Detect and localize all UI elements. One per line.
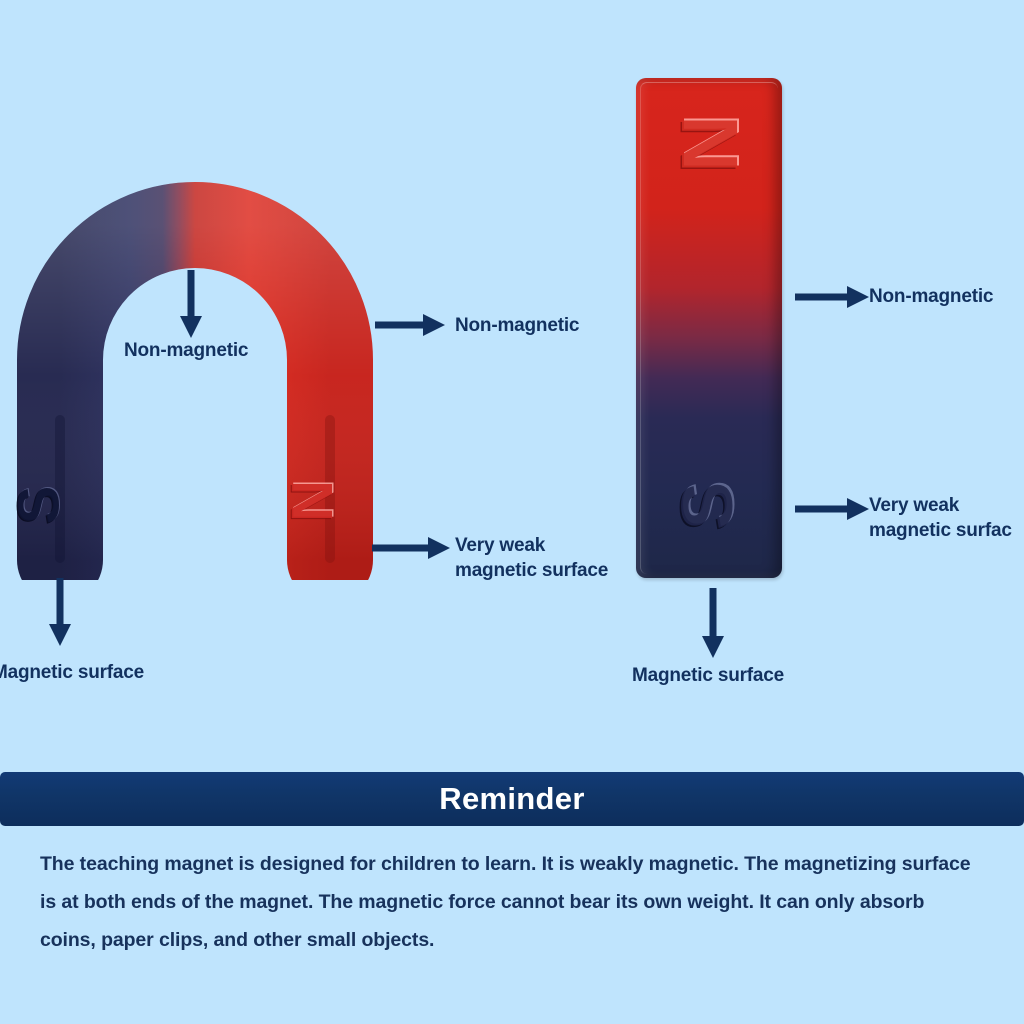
label-bar-very-weak: Very weak magnetic surfac xyxy=(869,493,1012,543)
label-bar-magnetic-surface: Magnetic surface xyxy=(632,663,784,688)
bar-north-pole-letter: N xyxy=(670,84,750,204)
horseshoe-north-pole-letter: N xyxy=(284,480,342,522)
product-info-image: S N N S Non-magnetic Non-magnetic xyxy=(0,0,1024,1024)
arrow-right-icon-bar-non-magnetic xyxy=(795,284,869,310)
arrow-down-icon-bar-magnetic xyxy=(700,588,726,658)
label-horseshoe-arch-non-magnetic: Non-magnetic xyxy=(124,338,248,363)
bar-south-pole-letter: S xyxy=(672,446,744,566)
arrow-down-icon-horseshoe-magnetic xyxy=(47,578,73,646)
arrow-right-icon-horseshoe-outer xyxy=(375,312,445,338)
horseshoe-south-pole-letter: S xyxy=(10,486,68,525)
label-line-2: magnetic surfac xyxy=(869,518,1012,543)
label-line-1: Very weak xyxy=(869,493,1012,518)
label-horseshoe-very-weak: Very weak magnetic surface xyxy=(455,533,608,583)
label-horseshoe-outer-non-magnetic: Non-magnetic xyxy=(455,313,579,338)
label-bar-non-magnetic: Non-magnetic xyxy=(869,284,993,309)
reminder-banner: Reminder xyxy=(0,772,1024,826)
reminder-title: Reminder xyxy=(439,781,584,817)
label-line-2: magnetic surface xyxy=(455,558,608,583)
arrow-down-icon-horseshoe-arch xyxy=(178,270,204,338)
label-line-1: Very weak xyxy=(455,533,608,558)
arrow-right-icon-bar-weak xyxy=(795,496,869,522)
reminder-body-text: The teaching magnet is designed for chil… xyxy=(40,845,984,959)
label-horseshoe-magnetic-surface: Magnetic surface xyxy=(0,660,144,685)
arrow-right-icon-horseshoe-weak xyxy=(372,535,450,561)
magnet-illustration: S N N S Non-magnetic Non-magnetic xyxy=(0,0,1024,772)
